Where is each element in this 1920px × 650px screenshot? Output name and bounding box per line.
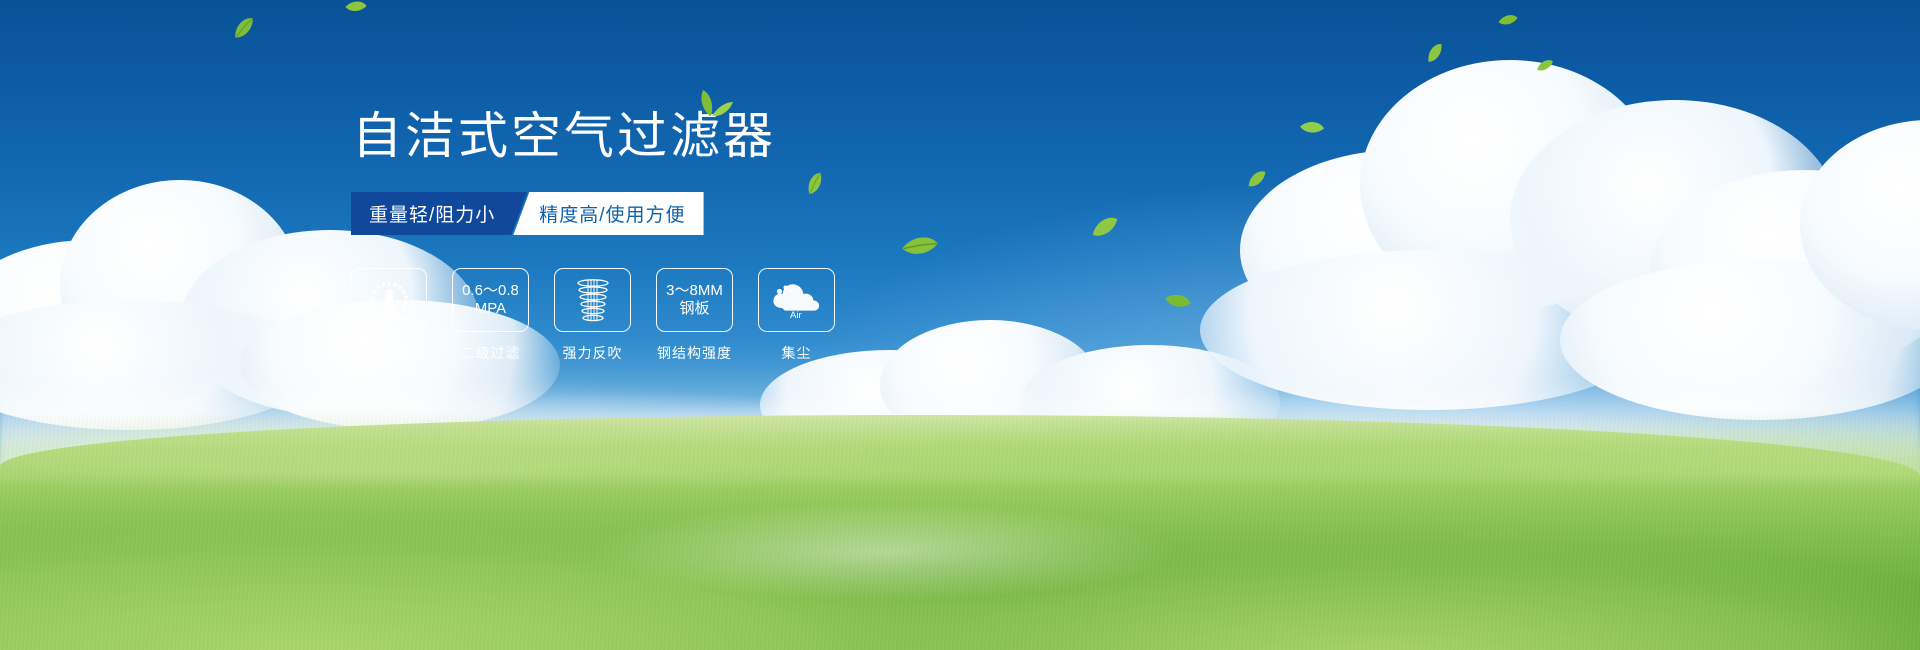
title-leaf-icon [689,84,735,123]
svg-text:OFF: OFF [398,316,410,322]
feature-box-text-line1: 0.6～0.8 [462,282,519,300]
badge-high-precision: 精度高/使用方便 [513,192,703,235]
feature-label: 控制仪 [366,343,411,363]
feature-label: 强力反吹 [563,343,623,363]
feature-list: NO OFF 控制仪 0.6～0.8 MPA 二级过滤 [351,268,834,363]
feature-icon-box: NO OFF [350,268,427,332]
banner-content: 自洁式空气过滤器 重量轻/阻力小 精度高/使用方便 [0,0,1920,650]
feature-icon-box [554,268,631,332]
feature-item-back-blow: 强力反吹 [555,268,630,363]
badge-label: 重量轻/阻力小 [369,200,495,227]
svg-text:NO: NO [367,298,376,304]
steel-plate-text-icon: 3～8MM 钢板 [666,282,723,319]
feature-item-steel-strength: 3～8MM 钢板 钢结构强度 [657,268,732,363]
svg-text:Air: Air [790,310,802,321]
feature-item-dust-collection: Air 集尘 [759,268,834,363]
feature-label: 二级过滤 [461,343,521,363]
feature-icon-box: 0.6～0.8 MPA [452,268,529,332]
feature-icon-box: 3～8MM 钢板 [656,268,733,332]
badge-light-weight: 重量轻/阻力小 [351,192,527,235]
feature-icon-box: Air [758,268,835,332]
badge-group: 重量轻/阻力小 精度高/使用方便 [351,192,704,235]
badge-label: 精度高/使用方便 [539,200,685,227]
gauge-icon: NO OFF [359,276,419,324]
feature-item-controller: NO OFF 控制仪 [351,268,426,363]
feature-label: 集尘 [782,343,812,363]
title-block: 自洁式空气过滤器 [352,108,776,164]
feature-box-text-line2: 钢板 [666,300,723,318]
cloud-air-icon: Air [769,278,825,322]
pressure-text-icon: 0.6～0.8 MPA [462,282,519,319]
banner-stage: 自洁式空气过滤器 重量轻/阻力小 精度高/使用方便 [0,0,1920,650]
feature-label: 钢结构强度 [657,343,732,363]
filter-coil-icon [570,275,616,325]
feature-box-text-line2: MPA [462,300,519,318]
feature-item-two-stage-filter: 0.6～0.8 MPA 二级过滤 [453,268,528,363]
feature-box-text-line1: 3～8MM [666,282,723,300]
